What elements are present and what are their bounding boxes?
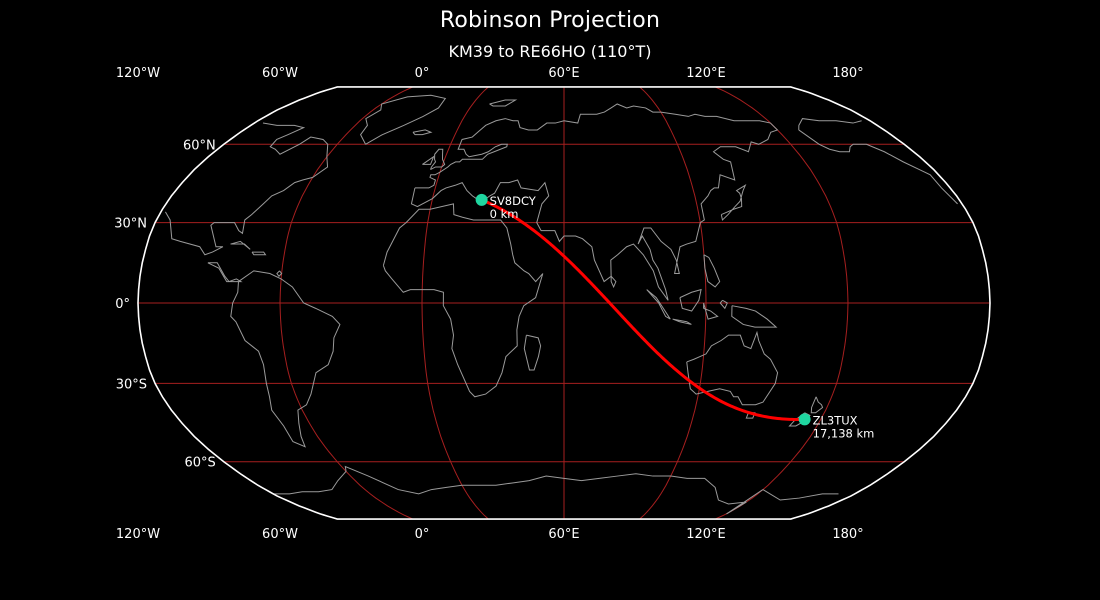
- station-distance-label: 0 km: [490, 207, 519, 221]
- latitude-label: 60°S: [185, 456, 216, 471]
- coastline: [799, 130, 958, 204]
- coastline: [687, 332, 778, 404]
- longitude-label-bottom: 60°W: [262, 527, 298, 542]
- coastline: [490, 100, 516, 106]
- coastline: [422, 157, 433, 165]
- station-marker[interactable]: [476, 194, 488, 206]
- longitude-label-top: 60°E: [548, 66, 579, 81]
- longitude-label-top: 120°W: [116, 66, 160, 81]
- coastline: [411, 104, 777, 300]
- longitude-label-bottom: 60°E: [548, 527, 579, 542]
- coastline: [704, 255, 720, 287]
- station-marker[interactable]: [799, 413, 811, 425]
- graticule-group: [138, 87, 990, 519]
- station-callsign-label: SV8DCY: [490, 194, 537, 208]
- coastline: [673, 319, 692, 324]
- station-callsign-label: ZL3TUX: [813, 413, 858, 427]
- latitude-label: 0°: [115, 297, 130, 312]
- map-figure: Robinson Projection KM39 to RE66HO (110°…: [0, 0, 1100, 600]
- great-circle-path: [482, 200, 805, 420]
- longitude-label-top: 60°W: [262, 66, 298, 81]
- coastline: [524, 335, 540, 370]
- latitude-label: 60°N: [183, 138, 216, 153]
- latitude-label: 30°S: [116, 377, 147, 392]
- coastline: [720, 300, 727, 308]
- coastline: [361, 95, 446, 144]
- great-circle-line: [482, 200, 805, 420]
- coastline: [799, 119, 862, 130]
- coastline: [732, 306, 776, 327]
- longitude-label-top: 180°: [832, 66, 863, 81]
- axis-labels: 60°W60°W0°0°60°E60°E120°E120°E180°180°12…: [114, 66, 863, 542]
- longitude-label-bottom: 180°: [832, 527, 863, 542]
- station-distance-label: 17,138 km: [813, 426, 875, 440]
- coastline: [252, 252, 265, 255]
- coastline: [763, 490, 839, 500]
- coastline: [273, 467, 763, 514]
- coastline: [611, 276, 616, 287]
- coastline: [208, 263, 241, 282]
- coastline: [383, 204, 542, 397]
- coastline: [811, 397, 822, 413]
- latitude-label: 30°N: [114, 217, 147, 232]
- longitude-label-top: 0°: [415, 66, 430, 81]
- coastline: [680, 290, 701, 311]
- coastline: [231, 241, 251, 249]
- coastline: [721, 185, 745, 220]
- coastline-group: [165, 95, 957, 514]
- longitude-label-bottom: 120°W: [116, 527, 160, 542]
- coastline: [413, 130, 431, 135]
- longitude-label-bottom: 0°: [415, 527, 430, 542]
- robinson-map[interactable]: SV8DCY0 kmZL3TUX17,138 km 60°W60°W0°0°60…: [0, 0, 1100, 600]
- longitude-label-bottom: 120°E: [686, 527, 726, 542]
- longitude-label-top: 120°E: [686, 66, 726, 81]
